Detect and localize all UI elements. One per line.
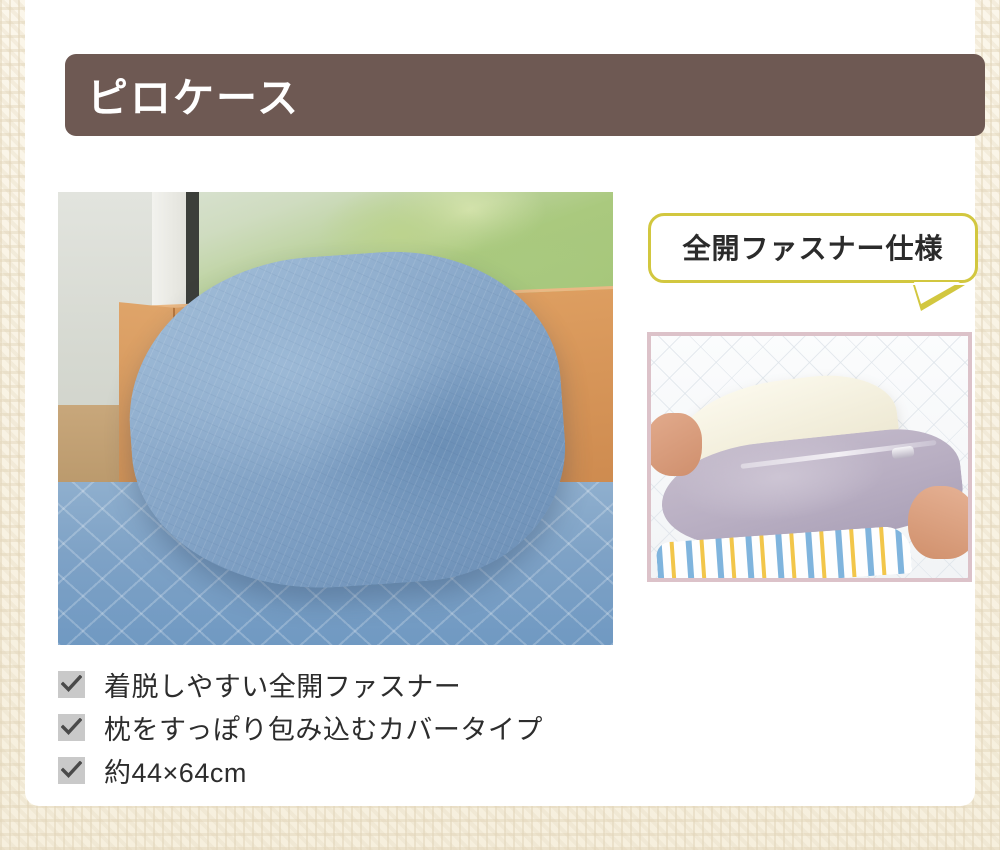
check-icon — [58, 757, 85, 784]
page-title: ピロケース — [87, 64, 300, 124]
callout-bubble: 全開ファスナー仕様 — [648, 213, 978, 283]
hand-right — [908, 486, 972, 559]
zipper-detail-photo — [647, 332, 972, 582]
callout-label: 全開ファスナー仕様 — [651, 227, 975, 267]
list-item: 枕をすっぽり包み込むカバータイプ — [58, 707, 543, 747]
list-item: 約44×64cm — [58, 750, 543, 790]
hand-left — [647, 413, 702, 476]
list-item-label: 着脱しやすい全開ファスナー — [104, 665, 461, 704]
check-icon — [58, 714, 85, 741]
feature-list: 着脱しやすい全開ファスナー 枕をすっぽり包み込むカバータイプ 約44×64cm — [58, 664, 543, 793]
section-header-bar: ピロケース — [65, 54, 985, 136]
list-item-label: 枕をすっぽり包み込むカバータイプ — [104, 708, 543, 747]
content-card: ピロケース 全開ファスナー仕様 — [25, 0, 975, 806]
list-item-label: 約44×64cm — [104, 751, 247, 790]
check-icon — [58, 671, 85, 698]
callout-tail-inner — [914, 282, 960, 304]
list-item: 着脱しやすい全開ファスナー — [58, 664, 543, 704]
hero-product-photo — [58, 192, 613, 645]
